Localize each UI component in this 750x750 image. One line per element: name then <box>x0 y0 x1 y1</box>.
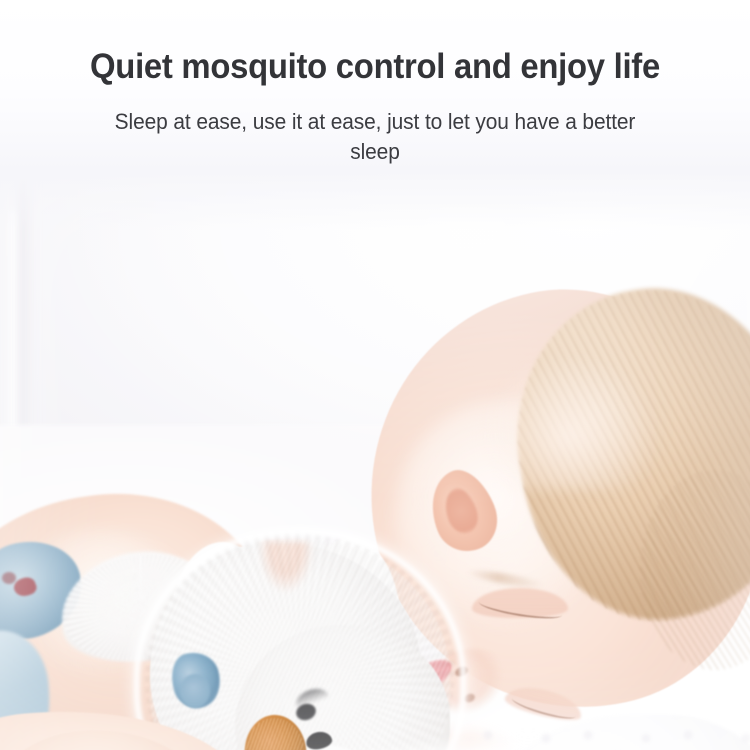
plush-blue-tag-inner <box>180 674 210 708</box>
header-text-block: Quiet mosquito control and enjoy life Sl… <box>0 0 750 172</box>
hero-photo <box>0 170 750 750</box>
wall-highlight <box>8 210 18 460</box>
page-title: Quiet mosquito control and enjoy life <box>28 44 722 88</box>
page-subtitle: Sleep at ease, use it at ease, just to l… <box>90 107 660 167</box>
baby-garment-accent-outer <box>2 572 16 584</box>
baby-forehead <box>470 310 670 490</box>
fluffy-blanket-right-texture <box>470 718 750 750</box>
promo-banner: Quiet mosquito control and enjoy life Sl… <box>0 0 750 750</box>
baby-eye-closed <box>472 588 568 622</box>
